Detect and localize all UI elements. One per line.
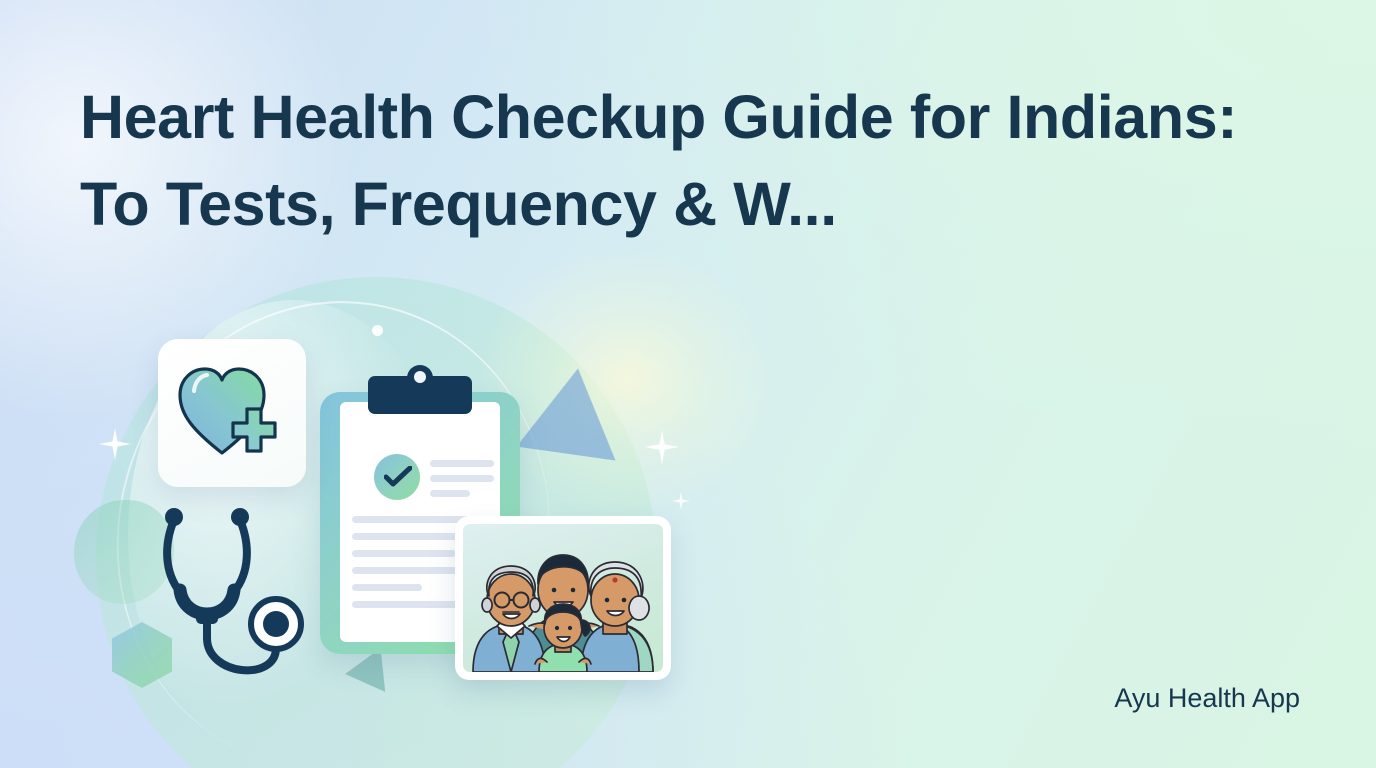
stethoscope-icon: [148, 498, 326, 695]
clipboard-clip-knob: [407, 365, 433, 391]
brand-label: Ayu Health App: [1114, 683, 1300, 714]
family-photo-image: [463, 524, 663, 672]
heart-with-medical-cross-icon: [158, 339, 306, 487]
check-mark-icon: [374, 454, 420, 500]
indian-family-photo: [455, 516, 671, 680]
heart-health-checkup-illustration: [0, 0, 1376, 768]
